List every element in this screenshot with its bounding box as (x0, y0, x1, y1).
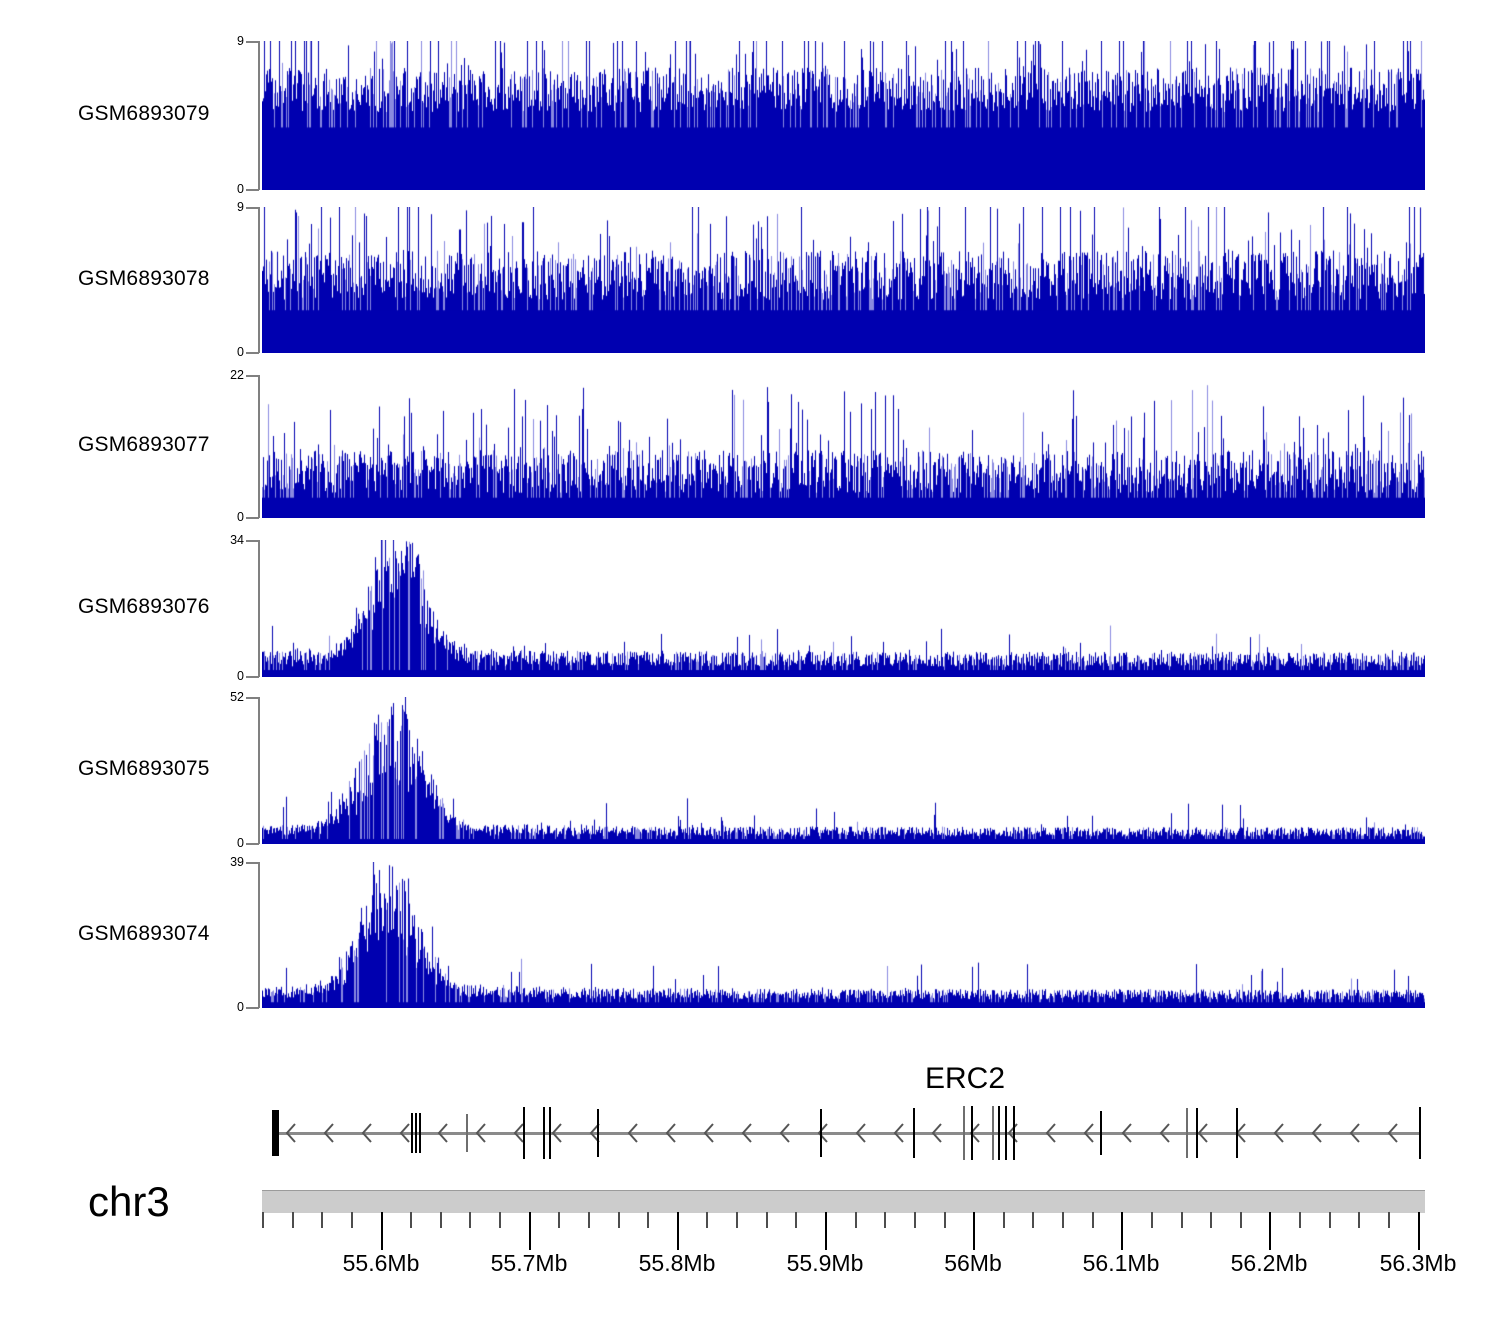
exon-mark (820, 1109, 822, 1157)
y-axis-max-tick (246, 375, 259, 377)
ruler-minor-tick (884, 1212, 886, 1228)
track-label-gsm6893076: GSM6893076 (78, 595, 210, 619)
exon-mark (1013, 1106, 1015, 1160)
strand-arrow-left-icon (817, 1121, 829, 1145)
ruler-major-tick (529, 1212, 531, 1250)
chromosome-label: chr3 (88, 1178, 170, 1226)
ruler-major-tick (973, 1212, 975, 1250)
y-axis-zero-label: 0 (182, 346, 244, 359)
coverage-plot-area[interactable] (262, 207, 1425, 353)
y-axis-max-tick (246, 207, 259, 209)
strand-arrow-left-icon (741, 1121, 753, 1145)
y-axis-zero-label: 0 (182, 1001, 244, 1014)
y-axis-zero-tick (246, 352, 259, 354)
ruler-minor-tick (262, 1212, 264, 1228)
strand-arrow-left-icon (893, 1121, 905, 1145)
exon-mark (411, 1113, 413, 1153)
y-axis-line (258, 540, 260, 677)
ruler-minor-tick (1003, 1212, 1005, 1228)
ruler-label: 56.3Mb (1380, 1250, 1457, 1277)
exon-mark (419, 1113, 421, 1153)
ruler-major-tick (1418, 1212, 1420, 1250)
gene-annotation-track[interactable]: ERC2 (0, 1060, 1500, 1180)
strand-arrow-left-icon (779, 1121, 791, 1145)
ruler-minor-tick (647, 1212, 649, 1228)
ruler-label: 56.1Mb (1083, 1250, 1160, 1277)
exon-mark (272, 1110, 279, 1156)
y-axis-zero-tick (246, 189, 259, 191)
exon-mark (1005, 1106, 1007, 1160)
y-axis-max-label: 22 (182, 369, 244, 382)
exon-mark (543, 1107, 545, 1159)
strand-arrow-left-icon (1159, 1121, 1171, 1145)
ruler-minor-tick (1210, 1212, 1212, 1228)
strand-arrow-left-icon (589, 1121, 601, 1145)
ruler-minor-tick (588, 1212, 590, 1228)
ruler-label: 56.2Mb (1231, 1250, 1308, 1277)
ruler-minor-tick (1032, 1212, 1034, 1228)
coverage-plot-area[interactable] (262, 697, 1425, 844)
strand-arrow-left-icon (437, 1121, 449, 1145)
ideogram-bar[interactable] (262, 1190, 1425, 1213)
ruler-major-tick (381, 1212, 383, 1250)
ruler-minor-tick (914, 1212, 916, 1228)
strand-arrow-left-icon (1121, 1121, 1133, 1145)
exon-mark (998, 1106, 1000, 1160)
ruler-minor-tick (944, 1212, 946, 1228)
strand-arrow-left-icon (703, 1121, 715, 1145)
exon-mark (523, 1107, 525, 1159)
y-axis-max-tick (246, 862, 259, 864)
strand-arrow-left-icon (1311, 1121, 1323, 1145)
exon-mark (549, 1107, 551, 1159)
ruler-minor-tick (795, 1212, 797, 1228)
ruler-minor-tick (1181, 1212, 1183, 1228)
ruler-major-tick (825, 1212, 827, 1250)
y-axis-max-label: 39 (182, 856, 244, 869)
strand-arrow-left-icon (1387, 1121, 1399, 1145)
gene-label: ERC2 (925, 1062, 1005, 1096)
ruler-minor-tick (1388, 1212, 1390, 1228)
ruler-major-tick (677, 1212, 679, 1250)
exon-mark (466, 1114, 468, 1152)
genome-browser-view: GSM689307990GSM689307890GSM6893077220GSM… (0, 0, 1500, 1320)
ruler-minor-tick (410, 1212, 412, 1228)
coverage-histogram (262, 540, 1425, 677)
coverage-histogram (262, 375, 1425, 518)
ruler-minor-tick (1062, 1212, 1064, 1228)
exon-mark (913, 1108, 915, 1158)
y-axis-zero-tick (246, 843, 259, 845)
ruler-minor-tick (440, 1212, 442, 1228)
coverage-plot-area[interactable] (262, 41, 1425, 190)
track-label-gsm6893074: GSM6893074 (78, 922, 210, 946)
ruler-minor-tick (1151, 1212, 1153, 1228)
strand-arrow-left-icon (475, 1121, 487, 1145)
y-axis-zero-tick (246, 1007, 259, 1009)
ruler-minor-tick (1092, 1212, 1094, 1228)
coverage-plot-area[interactable] (262, 540, 1425, 677)
ruler-minor-tick (1329, 1212, 1331, 1228)
ruler-minor-tick (321, 1212, 323, 1228)
y-axis-max-label: 9 (182, 35, 244, 48)
ruler-minor-tick (469, 1212, 471, 1228)
ruler-minor-tick (1358, 1212, 1360, 1228)
strand-arrow-left-icon (855, 1121, 867, 1145)
exon-mark (415, 1113, 417, 1153)
ruler-minor-tick (1240, 1212, 1242, 1228)
strand-arrow-left-icon (931, 1121, 943, 1145)
strand-arrow-left-icon (361, 1121, 373, 1145)
exon-mark (1236, 1108, 1238, 1158)
y-axis-max-tick (246, 540, 259, 542)
y-axis-line (258, 375, 260, 518)
strand-arrow-left-icon (399, 1121, 411, 1145)
track-label-gsm6893075: GSM6893075 (78, 757, 210, 781)
y-axis-zero-label: 0 (182, 183, 244, 196)
exon-mark (1186, 1108, 1188, 1158)
ruler-minor-tick (1299, 1212, 1301, 1228)
ruler-minor-tick (855, 1212, 857, 1228)
coverage-histogram (262, 41, 1425, 190)
track-label-gsm6893079: GSM6893079 (78, 102, 210, 126)
exon-mark (963, 1106, 965, 1160)
exon-mark (1196, 1108, 1198, 1158)
y-axis-zero-label: 0 (182, 837, 244, 850)
exon-mark (1419, 1107, 1421, 1159)
track-label-gsm6893077: GSM6893077 (78, 433, 210, 457)
strand-arrow-left-icon (323, 1121, 335, 1145)
y-axis-zero-label: 0 (182, 511, 244, 524)
coverage-plot-area[interactable] (262, 375, 1425, 518)
y-axis-line (258, 207, 260, 353)
ruler-minor-tick (706, 1212, 708, 1228)
ruler-label: 55.9Mb (787, 1250, 864, 1277)
ruler-label: 55.8Mb (639, 1250, 716, 1277)
ruler-major-tick (1121, 1212, 1123, 1250)
y-axis-line (258, 697, 260, 844)
y-axis-line (258, 41, 260, 190)
ruler-label: 56Mb (944, 1250, 1002, 1277)
y-axis-zero-tick (246, 517, 259, 519)
ruler-minor-tick (766, 1212, 768, 1228)
y-axis-max-label: 34 (182, 534, 244, 547)
y-axis-max-label: 52 (182, 691, 244, 704)
strand-arrow-left-icon (1197, 1121, 1209, 1145)
ruler-label: 55.7Mb (491, 1250, 568, 1277)
ruler-minor-tick (558, 1212, 560, 1228)
strand-arrow-left-icon (665, 1121, 677, 1145)
ruler-minor-tick (351, 1212, 353, 1228)
strand-arrow-left-icon (285, 1121, 297, 1145)
exon-mark (1100, 1111, 1102, 1155)
ruler-minor-tick (736, 1212, 738, 1228)
exon-mark (597, 1109, 599, 1157)
strand-arrow-left-icon (1349, 1121, 1361, 1145)
y-axis-max-tick (246, 697, 259, 699)
strand-arrow-left-icon (1045, 1121, 1057, 1145)
y-axis-zero-tick (246, 676, 259, 678)
exon-mark (992, 1106, 994, 1160)
coverage-histogram (262, 862, 1425, 1008)
strand-arrow-left-icon (627, 1121, 639, 1145)
coverage-histogram (262, 207, 1425, 353)
exon-mark (971, 1106, 973, 1160)
y-axis-line (258, 862, 260, 1008)
coverage-histogram (262, 697, 1425, 844)
strand-arrow-left-icon (1083, 1121, 1095, 1145)
ruler-label: 55.6Mb (343, 1250, 420, 1277)
ruler-minor-tick (618, 1212, 620, 1228)
y-axis-zero-label: 0 (182, 670, 244, 683)
track-label-gsm6893078: GSM6893078 (78, 267, 210, 291)
y-axis-max-label: 9 (182, 201, 244, 214)
ruler-minor-tick (292, 1212, 294, 1228)
coverage-plot-area[interactable] (262, 862, 1425, 1008)
ruler-minor-tick (499, 1212, 501, 1228)
strand-arrow-left-icon (551, 1121, 563, 1145)
strand-arrow-left-icon (1273, 1121, 1285, 1145)
ruler-major-tick (1269, 1212, 1271, 1250)
y-axis-max-tick (246, 41, 259, 43)
